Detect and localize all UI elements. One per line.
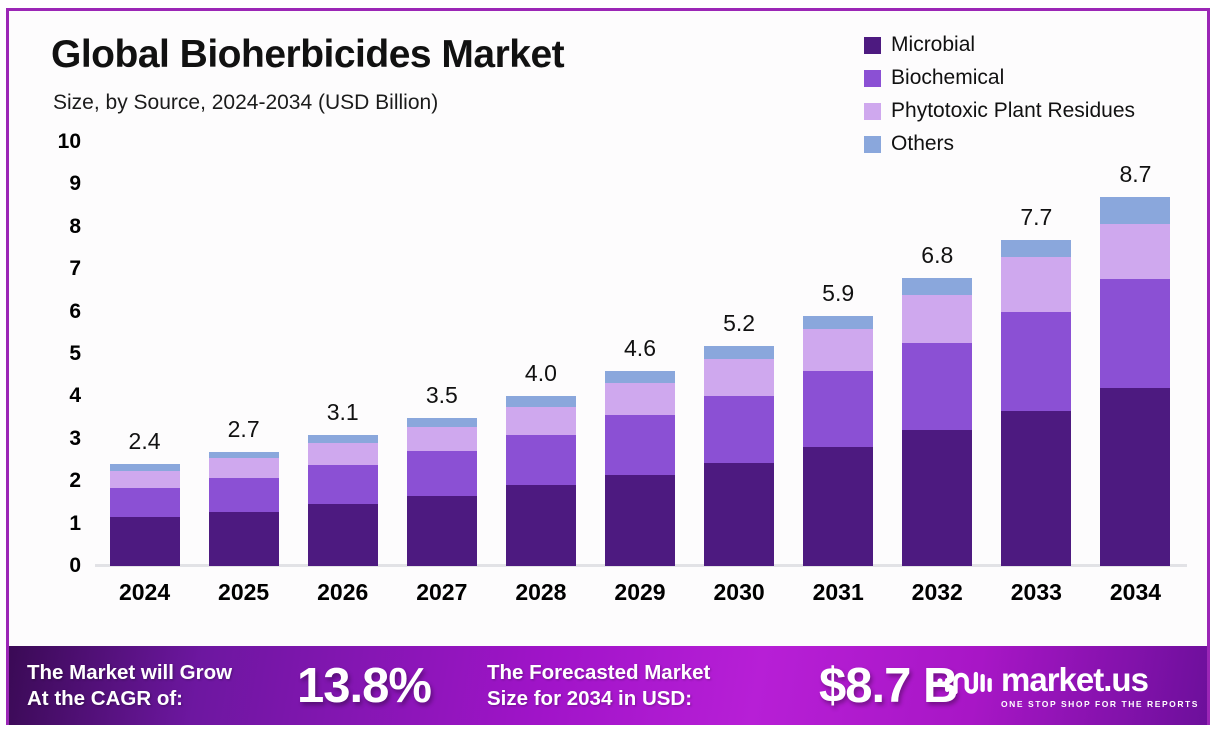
bar-segment[interactable] <box>803 316 873 329</box>
cagr-caption-line2: At the CAGR of: <box>27 686 232 711</box>
bar-segment[interactable] <box>704 359 774 396</box>
bar-segment[interactable] <box>407 451 477 496</box>
bar-segment[interactable] <box>605 383 675 415</box>
bar-stack[interactable] <box>1100 197 1170 566</box>
y-axis-tick: 3 <box>47 427 81 451</box>
y-axis-tick: 4 <box>47 384 81 408</box>
bar-segment[interactable] <box>209 452 279 459</box>
bar-stack[interactable] <box>902 278 972 566</box>
bar-value-label: 7.7 <box>1020 204 1052 231</box>
bar-segment[interactable] <box>209 458 279 478</box>
bar-stack[interactable] <box>209 452 279 566</box>
bar-segment[interactable] <box>407 418 477 427</box>
bar-value-label: 4.0 <box>525 360 557 387</box>
bar-value-label: 6.8 <box>921 242 953 269</box>
y-axis-tick: 10 <box>47 130 81 154</box>
cagr-caption: The Market will Grow At the CAGR of: <box>27 660 232 711</box>
bar-stack[interactable] <box>308 435 378 566</box>
x-axis-label: 2026 <box>293 579 392 606</box>
bar-segment[interactable] <box>605 475 675 566</box>
bar-segment[interactable] <box>308 465 378 504</box>
bar-segment[interactable] <box>1100 197 1170 224</box>
bar-segment[interactable] <box>1100 279 1170 388</box>
bar-segment[interactable] <box>506 435 576 486</box>
bar-segment[interactable] <box>407 427 477 452</box>
chart-plot-area: 012345678910 2.420242.720253.120263.5202… <box>9 11 1210 631</box>
bar-segment[interactable] <box>110 488 180 518</box>
bar-segment[interactable] <box>902 343 972 430</box>
bar-segment[interactable] <box>308 435 378 443</box>
y-axis-tick: 1 <box>47 512 81 536</box>
bar-value-label: 2.7 <box>228 416 260 443</box>
bar-value-label: 5.2 <box>723 310 755 337</box>
bar-segment[interactable] <box>308 504 378 566</box>
bar-segment[interactable] <box>506 485 576 566</box>
bar-value-label: 5.9 <box>822 280 854 307</box>
bar-segment[interactable] <box>506 407 576 435</box>
chart-card: Global Bioherbicides Market Size, by Sou… <box>6 8 1210 725</box>
bar-value-label: 2.4 <box>129 428 161 455</box>
bar-segment[interactable] <box>704 396 774 464</box>
forecast-caption-line1: The Forecasted Market <box>487 660 710 685</box>
brand-tagline: ONE STOP SHOP FOR THE REPORTS <box>1001 699 1199 709</box>
bar-segment[interactable] <box>1001 257 1071 312</box>
bar-segment[interactable] <box>605 371 675 383</box>
bar-value-label: 8.7 <box>1119 161 1151 188</box>
x-axis-label: 2033 <box>987 579 1086 606</box>
bar-segment[interactable] <box>605 415 675 475</box>
forecast-caption: The Forecasted Market Size for 2034 in U… <box>487 660 710 711</box>
y-axis-tick: 5 <box>47 342 81 366</box>
brand-name: market.us <box>1001 663 1148 696</box>
bar-segment[interactable] <box>1001 411 1071 566</box>
bar-segment[interactable] <box>1100 224 1170 279</box>
bar-segment[interactable] <box>209 512 279 566</box>
x-axis-label: 2024 <box>95 579 194 606</box>
market-us-monogram-icon <box>935 665 993 706</box>
bar-stack[interactable] <box>803 316 873 566</box>
x-axis-label: 2034 <box>1086 579 1185 606</box>
bar-segment[interactable] <box>902 295 972 344</box>
x-axis-label: 2031 <box>789 579 888 606</box>
cagr-value: 13.8% <box>297 658 431 714</box>
x-axis-label: 2027 <box>392 579 491 606</box>
bar-stack[interactable] <box>407 418 477 566</box>
bar-stack[interactable] <box>1001 240 1071 566</box>
bar-stack[interactable] <box>605 371 675 566</box>
bar-stack[interactable] <box>506 396 576 566</box>
bar-stack[interactable] <box>110 464 180 566</box>
bar-segment[interactable] <box>1001 240 1071 257</box>
bar-segment[interactable] <box>209 478 279 512</box>
bar-value-label: 4.6 <box>624 335 656 362</box>
y-axis-tick: 2 <box>47 469 81 493</box>
y-axis-tick: 7 <box>47 257 81 281</box>
y-axis-tick: 6 <box>47 300 81 324</box>
bar-segment[interactable] <box>110 517 180 566</box>
bar-value-label: 3.5 <box>426 382 458 409</box>
bar-segment[interactable] <box>704 463 774 566</box>
infographic-root: Global Bioherbicides Market Size, by Sou… <box>0 0 1216 739</box>
x-axis-label: 2025 <box>194 579 293 606</box>
bar-segment[interactable] <box>506 396 576 406</box>
cagr-caption-line1: The Market will Grow <box>27 660 232 685</box>
x-axis-label: 2028 <box>491 579 590 606</box>
bar-segment[interactable] <box>308 443 378 465</box>
bar-segment[interactable] <box>902 278 972 295</box>
summary-banner: The Market will Grow At the CAGR of: 13.… <box>9 646 1210 725</box>
x-axis-label: 2032 <box>888 579 987 606</box>
bar-segment[interactable] <box>803 371 873 447</box>
y-axis: 012345678910 <box>47 142 81 566</box>
x-axis-label: 2029 <box>590 579 689 606</box>
y-axis-tick: 0 <box>47 554 81 578</box>
bar-value-label: 3.1 <box>327 399 359 426</box>
bar-segment[interactable] <box>704 346 774 359</box>
bar-segment[interactable] <box>110 471 180 488</box>
y-axis-tick: 8 <box>47 215 81 239</box>
brand-logo[interactable]: market.us ONE STOP SHOP FOR THE REPORTS <box>935 663 1199 709</box>
y-axis-tick: 9 <box>47 172 81 196</box>
bar-segment[interactable] <box>902 430 972 566</box>
bar-segment[interactable] <box>803 447 873 566</box>
x-axis-label: 2030 <box>690 579 789 606</box>
brand-logo-text: market.us ONE STOP SHOP FOR THE REPORTS <box>1001 663 1199 709</box>
bar-segment[interactable] <box>407 496 477 566</box>
bar-stack[interactable] <box>704 346 774 566</box>
bar-segment[interactable] <box>803 329 873 371</box>
bar-segment[interactable] <box>1100 388 1170 566</box>
forecast-caption-line2: Size for 2034 in USD: <box>487 686 710 711</box>
bar-segment[interactable] <box>1001 312 1071 412</box>
